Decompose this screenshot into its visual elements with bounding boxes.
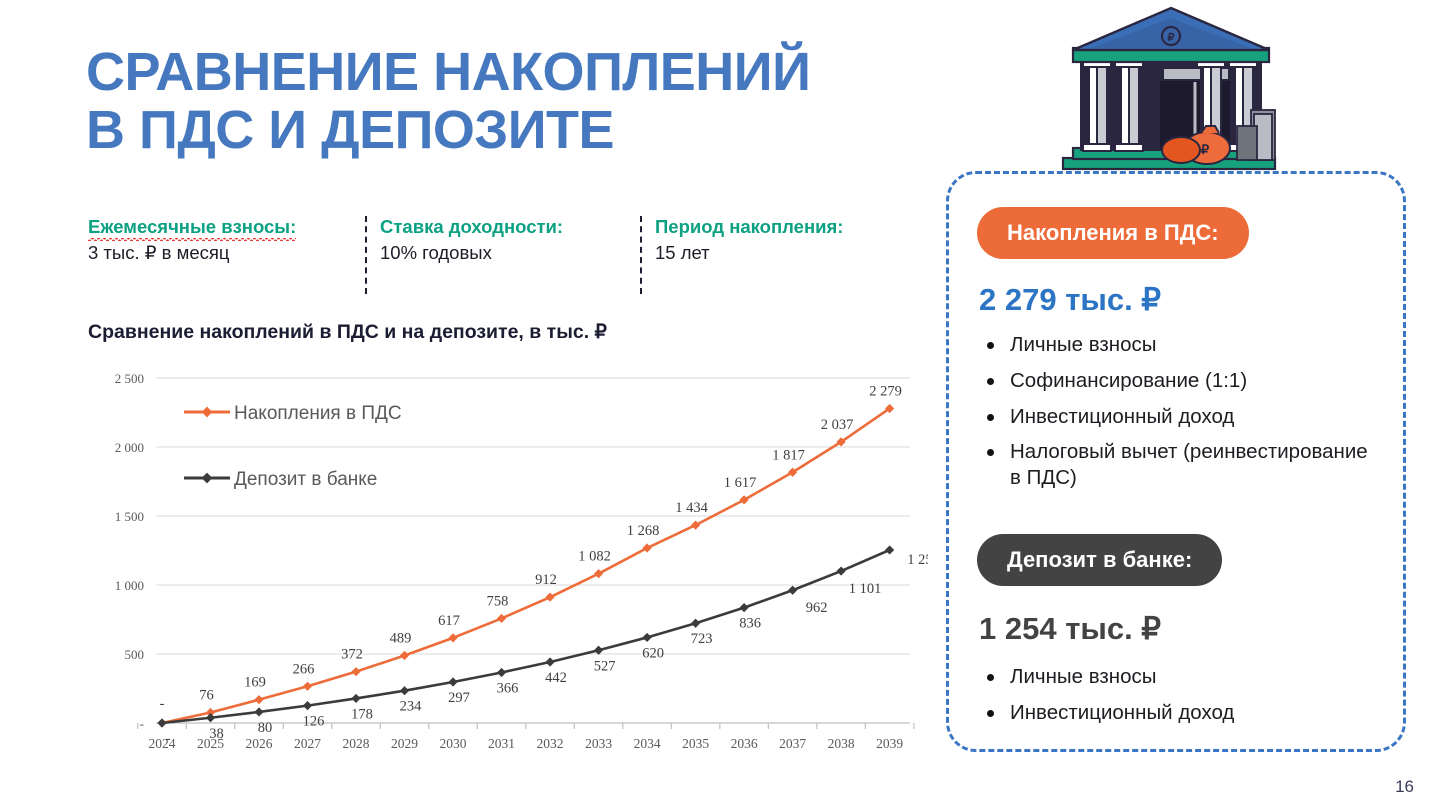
svg-text:2031: 2031 — [488, 736, 515, 751]
svg-text:2030: 2030 — [440, 736, 467, 751]
svg-text:2026: 2026 — [246, 736, 273, 751]
list-item-label: Инвестиционный доход — [1010, 700, 1234, 726]
svg-text:366: 366 — [497, 680, 519, 696]
svg-text:1 254: 1 254 — [907, 552, 928, 568]
list-item-label: Личные взносы — [1010, 664, 1157, 690]
svg-text:1 000: 1 000 — [115, 578, 144, 593]
svg-text:1 434: 1 434 — [675, 500, 708, 516]
svg-text:2036: 2036 — [731, 736, 758, 751]
chart-canvas: -5001 0001 5002 0002 500 202420252026202… — [88, 358, 928, 758]
svg-text:836: 836 — [739, 616, 761, 632]
page-title-line-2: В ПДС И ДЕПОЗИТЕ — [86, 102, 946, 160]
pds-badge-label: Накопления в ПДС: — [1007, 220, 1219, 246]
svg-text:2034: 2034 — [634, 736, 661, 751]
svg-text:2 279: 2 279 — [869, 383, 902, 399]
bullet-dot-icon — [987, 710, 994, 717]
svg-text:442: 442 — [545, 670, 567, 686]
parameter-value: 3 тыс. ₽ в месяц — [88, 242, 296, 264]
svg-text:2032: 2032 — [537, 736, 564, 751]
list-item: Личные взносы — [981, 332, 1381, 358]
bullet-dot-icon — [987, 342, 994, 349]
bullet-dot-icon — [987, 674, 994, 681]
svg-text:617: 617 — [438, 613, 460, 629]
svg-text:2027: 2027 — [294, 736, 321, 751]
list-item-label: Инвестиционный доход — [1010, 404, 1234, 430]
bank-building-illustration: ₽ ₽ — [1055, 2, 1305, 177]
svg-text:-: - — [160, 696, 165, 712]
svg-text:₽: ₽ — [1201, 142, 1210, 157]
parameter-monthly-contribution: Ежемесячные взносы: 3 тыс. ₽ в месяц — [88, 216, 296, 264]
svg-text:2035: 2035 — [682, 736, 709, 751]
svg-text:620: 620 — [642, 645, 664, 661]
svg-text:234: 234 — [400, 699, 423, 715]
svg-text:Накопления в ПДС: Накопления в ПДС — [234, 403, 402, 424]
svg-text:372: 372 — [341, 647, 363, 663]
list-item-label: Софинансирование (1:1) — [1010, 368, 1247, 394]
svg-text:1 617: 1 617 — [724, 475, 757, 491]
svg-text:527: 527 — [594, 658, 616, 674]
pds-total-value: 2 279 тыс. ₽ — [979, 282, 1161, 318]
page-number: 16 — [1395, 777, 1414, 797]
svg-text:912: 912 — [535, 572, 557, 588]
bullet-dot-icon — [987, 378, 994, 385]
parameter-value: 15 лет — [655, 242, 843, 264]
svg-text:2 500: 2 500 — [115, 371, 144, 386]
savings-comparison-chart: -5001 0001 5002 0002 500 202420252026202… — [88, 358, 928, 758]
list-item: Налоговый вычет (реинвестирование в ПДС) — [981, 439, 1381, 491]
parameter-accumulation-period: Период накопления: 15 лет — [655, 216, 843, 264]
svg-text:297: 297 — [448, 690, 470, 706]
svg-text:1 500: 1 500 — [115, 509, 144, 524]
svg-text:1 817: 1 817 — [772, 447, 805, 463]
svg-text:2038: 2038 — [828, 736, 855, 751]
svg-text:126: 126 — [303, 714, 325, 730]
chart-heading: Сравнение накоплений в ПДС и на депозите… — [88, 320, 607, 344]
list-item: Инвестиционный доход — [981, 404, 1381, 430]
deposit-bullet-list: Личные взносы Инвестиционный доход — [981, 664, 1381, 736]
svg-text:266: 266 — [293, 661, 315, 677]
page-title: СРАВНЕНИЕ НАКОПЛЕНИЙ В ПДС И ДЕПОЗИТЕ — [86, 44, 946, 160]
svg-text:38: 38 — [209, 726, 224, 742]
svg-text:2 000: 2 000 — [115, 440, 144, 455]
parameter-label: Ставка доходности: — [380, 216, 563, 238]
svg-text:489: 489 — [390, 631, 412, 647]
svg-text:178: 178 — [351, 706, 373, 722]
svg-text:2039: 2039 — [876, 736, 903, 751]
page-title-line-1: СРАВНЕНИЕ НАКОПЛЕНИЙ — [86, 44, 946, 102]
svg-text:2037: 2037 — [779, 736, 806, 751]
list-item: Инвестиционный доход — [981, 700, 1381, 726]
deposit-badge-label: Депозит в банке: — [1007, 547, 1192, 573]
pds-badge: Накопления в ПДС: — [977, 207, 1249, 259]
parameter-label: Ежемесячные взносы: — [88, 216, 296, 238]
svg-text:500: 500 — [125, 647, 145, 662]
parameter-divider — [365, 216, 367, 294]
list-item: Софинансирование (1:1) — [981, 368, 1381, 394]
bullet-dot-icon — [987, 414, 994, 421]
svg-text:758: 758 — [487, 593, 509, 609]
svg-text:76: 76 — [199, 688, 214, 704]
parameters-bar: Ежемесячные взносы: 3 тыс. ₽ в месяц Ста… — [88, 216, 918, 294]
svg-text:1 101: 1 101 — [849, 581, 882, 597]
deposit-badge: Депозит в банке: — [977, 534, 1222, 586]
svg-text:2 037: 2 037 — [821, 417, 854, 433]
pds-bullet-list: Личные взносы Софинансирование (1:1) Инв… — [981, 332, 1381, 501]
svg-text:80: 80 — [258, 720, 273, 736]
parameter-value: 10% годовых — [380, 242, 563, 264]
list-item-label: Налоговый вычет (реинвестирование в ПДС) — [1010, 439, 1381, 491]
list-item: Личные взносы — [981, 664, 1381, 690]
chart-x-axis — [138, 723, 914, 729]
parameter-yield-rate: Ставка доходности: 10% годовых — [380, 216, 563, 264]
svg-text:2024: 2024 — [149, 736, 176, 751]
svg-text:-: - — [140, 716, 144, 731]
svg-text:2028: 2028 — [343, 736, 370, 751]
parameter-label: Период накопления: — [655, 216, 843, 238]
deposit-total-value: 1 254 тыс. ₽ — [979, 611, 1161, 647]
svg-text:₽: ₽ — [1168, 32, 1175, 44]
svg-text:1 268: 1 268 — [627, 523, 660, 539]
bullet-dot-icon — [987, 449, 994, 456]
svg-text:2033: 2033 — [585, 736, 612, 751]
chart-y-axis-labels: -5001 0001 5002 0002 500 — [115, 371, 144, 731]
svg-text:-: - — [166, 731, 171, 747]
list-item-label: Личные взносы — [1010, 332, 1157, 358]
parameter-divider — [640, 216, 642, 294]
svg-text:169: 169 — [244, 675, 266, 691]
chart-data-labels: -761692663724896177589121 0821 2681 4341… — [160, 383, 928, 747]
chart-x-axis-labels: 2024202520262027202820292030203120322033… — [149, 736, 904, 751]
svg-text:1 082: 1 082 — [578, 549, 611, 565]
svg-text:Депозит в банке: Депозит в банке — [234, 469, 377, 490]
svg-text:962: 962 — [806, 600, 828, 616]
svg-text:723: 723 — [691, 631, 713, 647]
svg-text:2029: 2029 — [391, 736, 418, 751]
summary-card: Накопления в ПДС: 2 279 тыс. ₽ Личные вз… — [946, 171, 1406, 752]
